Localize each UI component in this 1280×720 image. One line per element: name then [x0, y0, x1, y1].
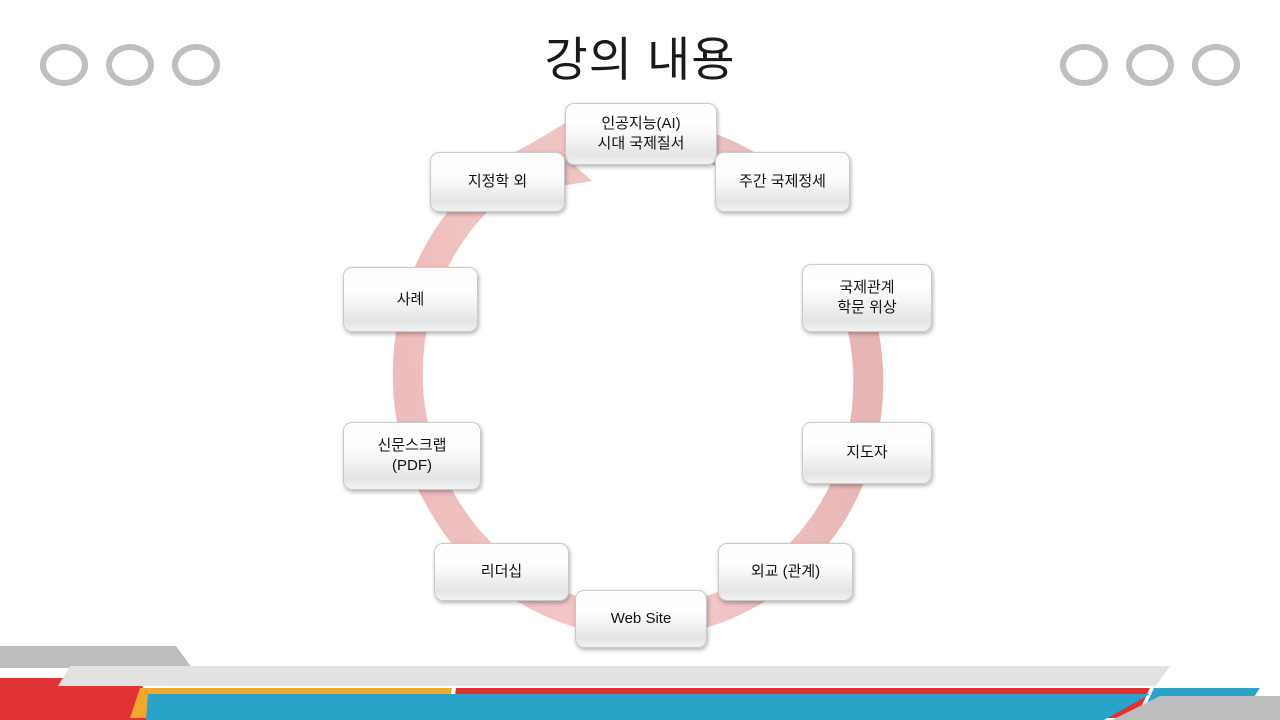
node-weekly[interactable]: 주간 국제정세: [715, 152, 850, 212]
banner-lightgray-bar: [58, 666, 1170, 686]
node-geopolitics[interactable]: 지정학 외: [430, 152, 565, 212]
page-title: 강의 내용: [0, 34, 1280, 86]
node-status[interactable]: 국제관계 학문 위상: [802, 264, 932, 332]
bottom-decor-banner: [0, 630, 1280, 720]
node-scrap[interactable]: 신문스크랩 (PDF): [343, 422, 481, 490]
slide-canvas: 강의 내용 인공지능(AI) 시대 국제질서 주간 국제정세 국제관계 학문 위…: [0, 0, 1280, 720]
node-case[interactable]: 사례: [343, 267, 478, 332]
node-diplomacy[interactable]: 외교 (관계): [718, 543, 853, 601]
banner-gray-shape: [0, 646, 192, 668]
banner-blue-band: [146, 694, 1150, 720]
node-leader[interactable]: 지도자: [802, 422, 932, 484]
node-ai[interactable]: 인공지능(AI) 시대 국제질서: [565, 103, 717, 165]
cycle-diagram: 인공지능(AI) 시대 국제질서 주간 국제정세 국제관계 학문 위상 지도자 …: [340, 95, 940, 655]
node-leadership[interactable]: 리더십: [434, 543, 569, 601]
